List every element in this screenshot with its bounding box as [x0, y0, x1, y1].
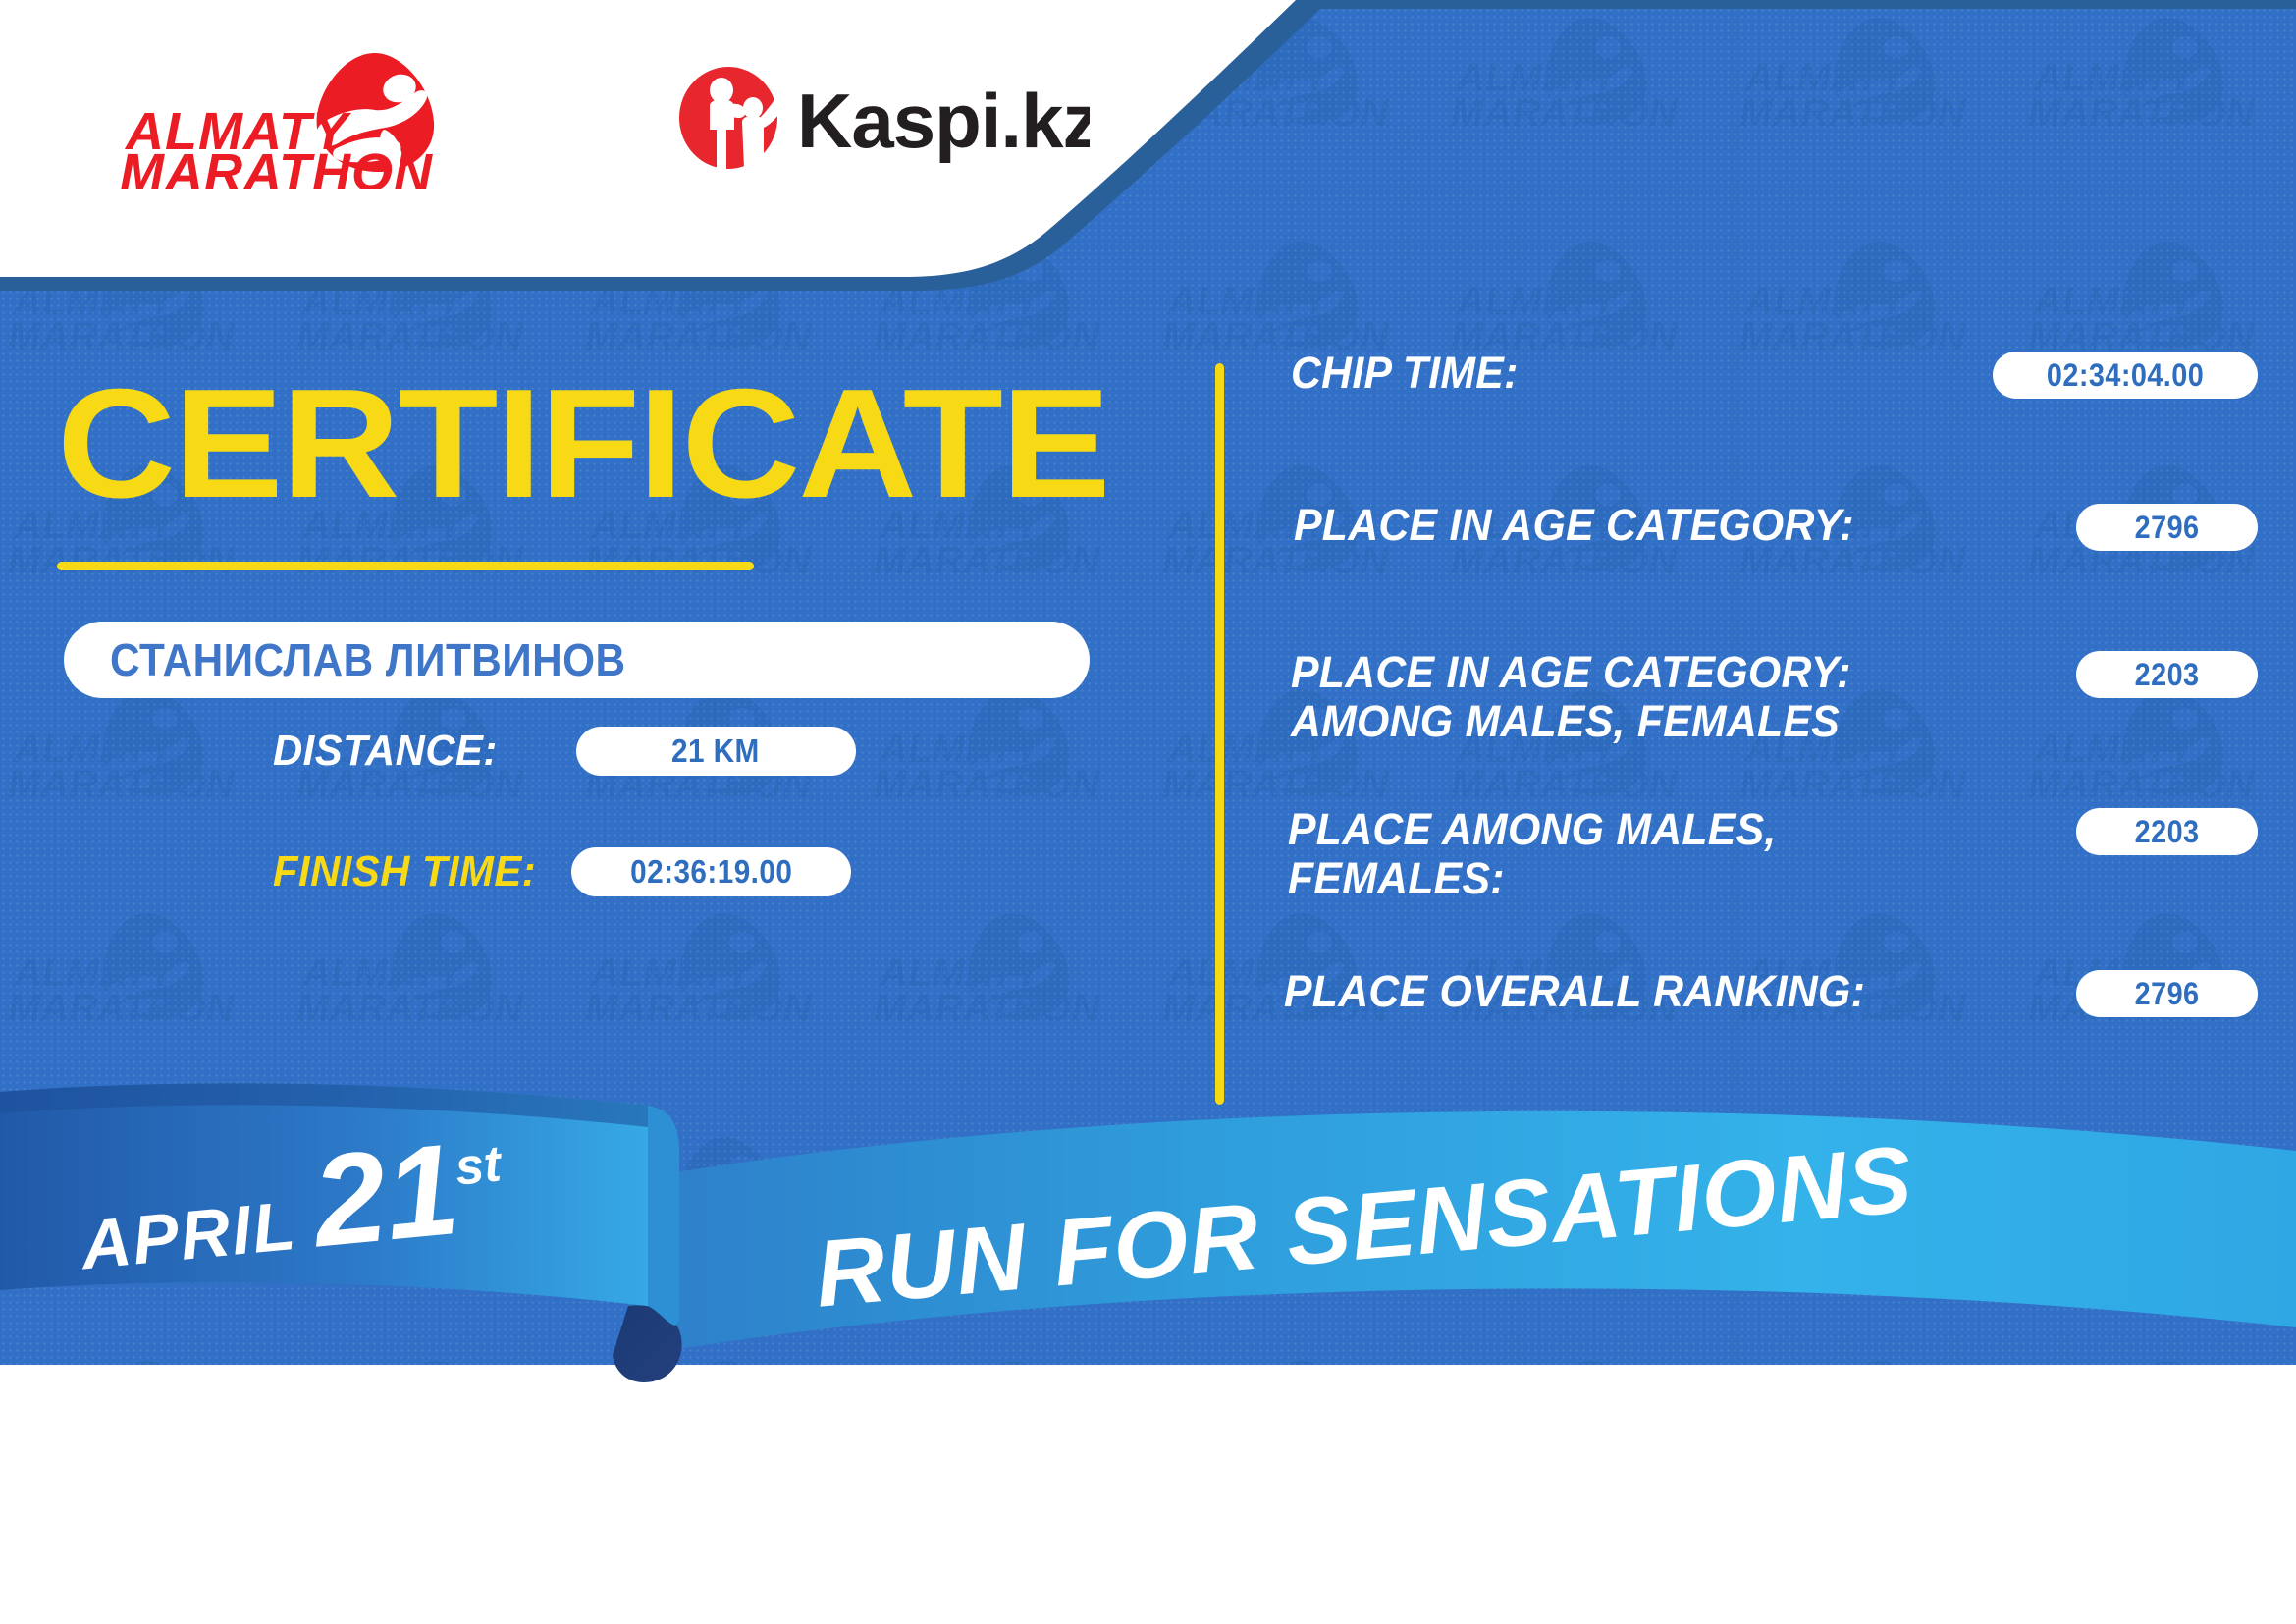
finish-time-label: FINISH TIME:	[273, 847, 536, 896]
distance-value: 21 KM	[671, 732, 760, 770]
finish-time-value: 02:36:19.00	[630, 853, 792, 891]
stat-value-pill: 2203	[2076, 651, 2258, 698]
almaty-logo-line2: MARATHON	[120, 143, 433, 189]
distance-label: DISTANCE:	[273, 727, 498, 776]
stat-value: 02:34:04.00	[2047, 357, 2204, 394]
participant-name: СТАНИСЛАВ ЛИТВИНОВ	[110, 633, 626, 686]
stat-label: PLACE IN AGE CATEGORY:	[1294, 501, 1854, 550]
stat-row-place-age-category-gender: PLACE IN AGE CATEGORY: AMONG MALES, FEMA…	[1266, 648, 2258, 747]
stat-row-place-among-gender: PLACE AMONG MALES, FEMALES: 2203	[1266, 805, 2258, 904]
participant-name-field: СТАНИСЛАВ ЛИТВИНОВ	[64, 622, 1090, 698]
stat-value-pill: 2203	[2076, 808, 2258, 855]
certificate-left-panel: CERTIFICATE СТАНИСЛАВ ЛИТВИНОВ DISTANCE:…	[0, 334, 1217, 1119]
sponsor-bar	[0, 1404, 2296, 1624]
distance-row: DISTANCE: 21 KM	[273, 727, 856, 776]
certificate-page: ALMATY MARATHON ALM	[0, 0, 2296, 1624]
stat-value: 2203	[2135, 814, 2200, 850]
page-title: CERTIFICATE	[57, 366, 1108, 521]
kaspi-people-icon	[679, 67, 785, 169]
stat-value-pill: 02:34:04.00	[1993, 352, 2258, 399]
stat-label: PLACE AMONG MALES, FEMALES:	[1288, 805, 1941, 904]
stat-label: PLACE OVERALL RANKING:	[1284, 967, 1865, 1016]
stat-label: CHIP TIME:	[1291, 349, 1519, 398]
almaty-marathon-logo: ALMATY MARATHON	[118, 41, 442, 189]
header-logos: ALMATY MARATHON Kaspi.kz	[0, 0, 1178, 226]
title-underline	[57, 562, 754, 570]
kaspi-logo: Kaspi.kz	[677, 61, 1090, 169]
stat-label: PLACE IN AGE CATEGORY: AMONG MALES, FEMA…	[1291, 648, 1944, 747]
event-day-suffix: st	[453, 1134, 504, 1197]
stat-value: 2796	[2135, 510, 2200, 546]
finish-time-row: FINISH TIME: 02:36:19.00	[273, 847, 851, 896]
event-day: 21	[308, 1131, 463, 1261]
stat-value-pill: 2796	[2076, 970, 2258, 1017]
distance-value-pill: 21 KM	[576, 727, 856, 776]
stat-row-place-age-category: PLACE IN AGE CATEGORY: 2796	[1266, 501, 2258, 551]
ribbon-curl	[648, 1106, 679, 1326]
kaspi-logo-text: Kaspi.kz	[797, 78, 1090, 164]
vertical-divider	[1215, 363, 1224, 1105]
stat-value: 2203	[2135, 657, 2200, 693]
stat-value: 2796	[2135, 976, 2200, 1012]
finish-time-value-pill: 02:36:19.00	[571, 847, 851, 896]
stat-row-chip-time: CHIP TIME: 02:34:04.00	[1266, 349, 2258, 399]
stat-value-pill: 2796	[2076, 504, 2258, 551]
stat-row-place-overall: PLACE OVERALL RANKING: 2796	[1266, 967, 2258, 1017]
